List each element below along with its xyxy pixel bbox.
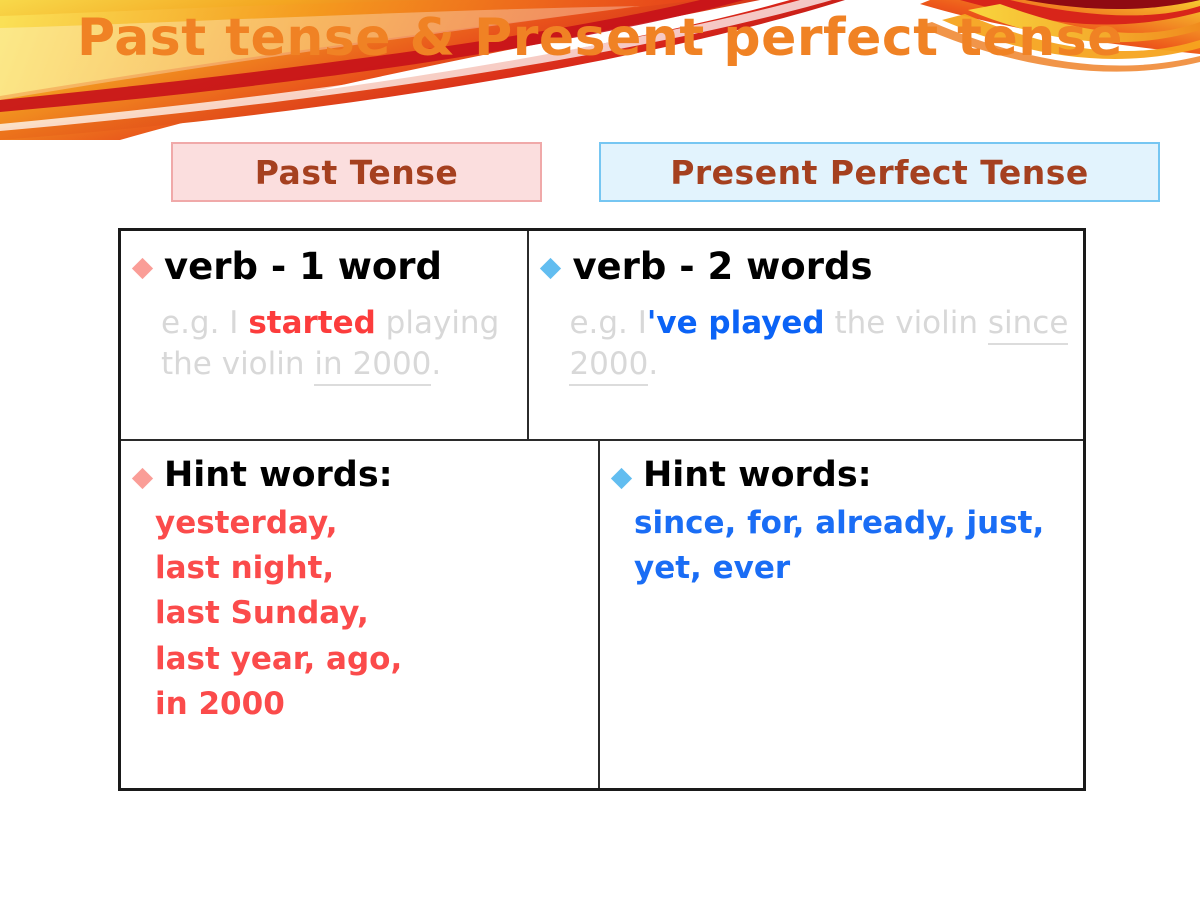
bullet-line: verb - 1 word bbox=[135, 247, 513, 287]
example-highlight: 've played bbox=[647, 305, 825, 341]
past-hint-words-list: yesterday, last night, last Sunday, last… bbox=[155, 501, 584, 727]
cell-present-perfect-hint-words: Hint words: since, for, already, just, y… bbox=[600, 441, 1083, 788]
diamond-bullet-icon bbox=[611, 468, 632, 489]
past-example-sentence: e.g. I started playing the violin in 200… bbox=[161, 303, 513, 385]
bullet-line: Hint words: bbox=[614, 457, 1069, 495]
present-perfect-hint-words-heading: Hint words: bbox=[643, 457, 872, 495]
example-highlight: started bbox=[248, 305, 376, 341]
tense-comparison-table: verb - 1 word e.g. I started playing the… bbox=[118, 228, 1086, 791]
example-suffix: . bbox=[648, 346, 658, 382]
cell-past-verb-form: verb - 1 word e.g. I started playing the… bbox=[121, 231, 529, 439]
diamond-bullet-icon bbox=[132, 468, 153, 489]
example-middle: the violin bbox=[825, 305, 988, 341]
past-hint-words-heading: Hint words: bbox=[164, 457, 393, 495]
bullet-line: Hint words: bbox=[135, 457, 584, 495]
cell-past-hint-words: Hint words: yesterday, last night, last … bbox=[121, 441, 600, 788]
table-row: verb - 1 word e.g. I started playing the… bbox=[121, 231, 1083, 441]
header-present-perfect-tense: Present Perfect Tense bbox=[599, 142, 1160, 202]
header-present-perfect-tense-label: Present Perfect Tense bbox=[670, 153, 1089, 192]
present-perfect-verb-form-heading: verb - 2 words bbox=[572, 247, 872, 287]
example-prefix: e.g. I bbox=[569, 305, 646, 341]
bullet-line: verb - 2 words bbox=[543, 247, 1069, 287]
example-suffix: . bbox=[431, 346, 441, 382]
header-past-tense: Past Tense bbox=[171, 142, 542, 202]
diamond-bullet-icon bbox=[540, 258, 561, 279]
present-perfect-example-sentence: e.g. I've played the violin since 2000. bbox=[569, 303, 1069, 385]
cell-present-perfect-verb-form: verb - 2 words e.g. I've played the viol… bbox=[529, 231, 1083, 439]
diamond-bullet-icon bbox=[132, 258, 153, 279]
past-verb-form-heading: verb - 1 word bbox=[164, 247, 442, 287]
example-prefix: e.g. I bbox=[161, 305, 248, 341]
page-title: Past tense & Present perfect tense bbox=[0, 8, 1200, 68]
present-perfect-hint-words-list: since, for, already, just, yet, ever bbox=[634, 501, 1069, 592]
example-underlined-time-phrase: in 2000 bbox=[314, 346, 431, 386]
table-row: Hint words: yesterday, last night, last … bbox=[121, 441, 1083, 788]
header-past-tense-label: Past Tense bbox=[255, 153, 459, 192]
